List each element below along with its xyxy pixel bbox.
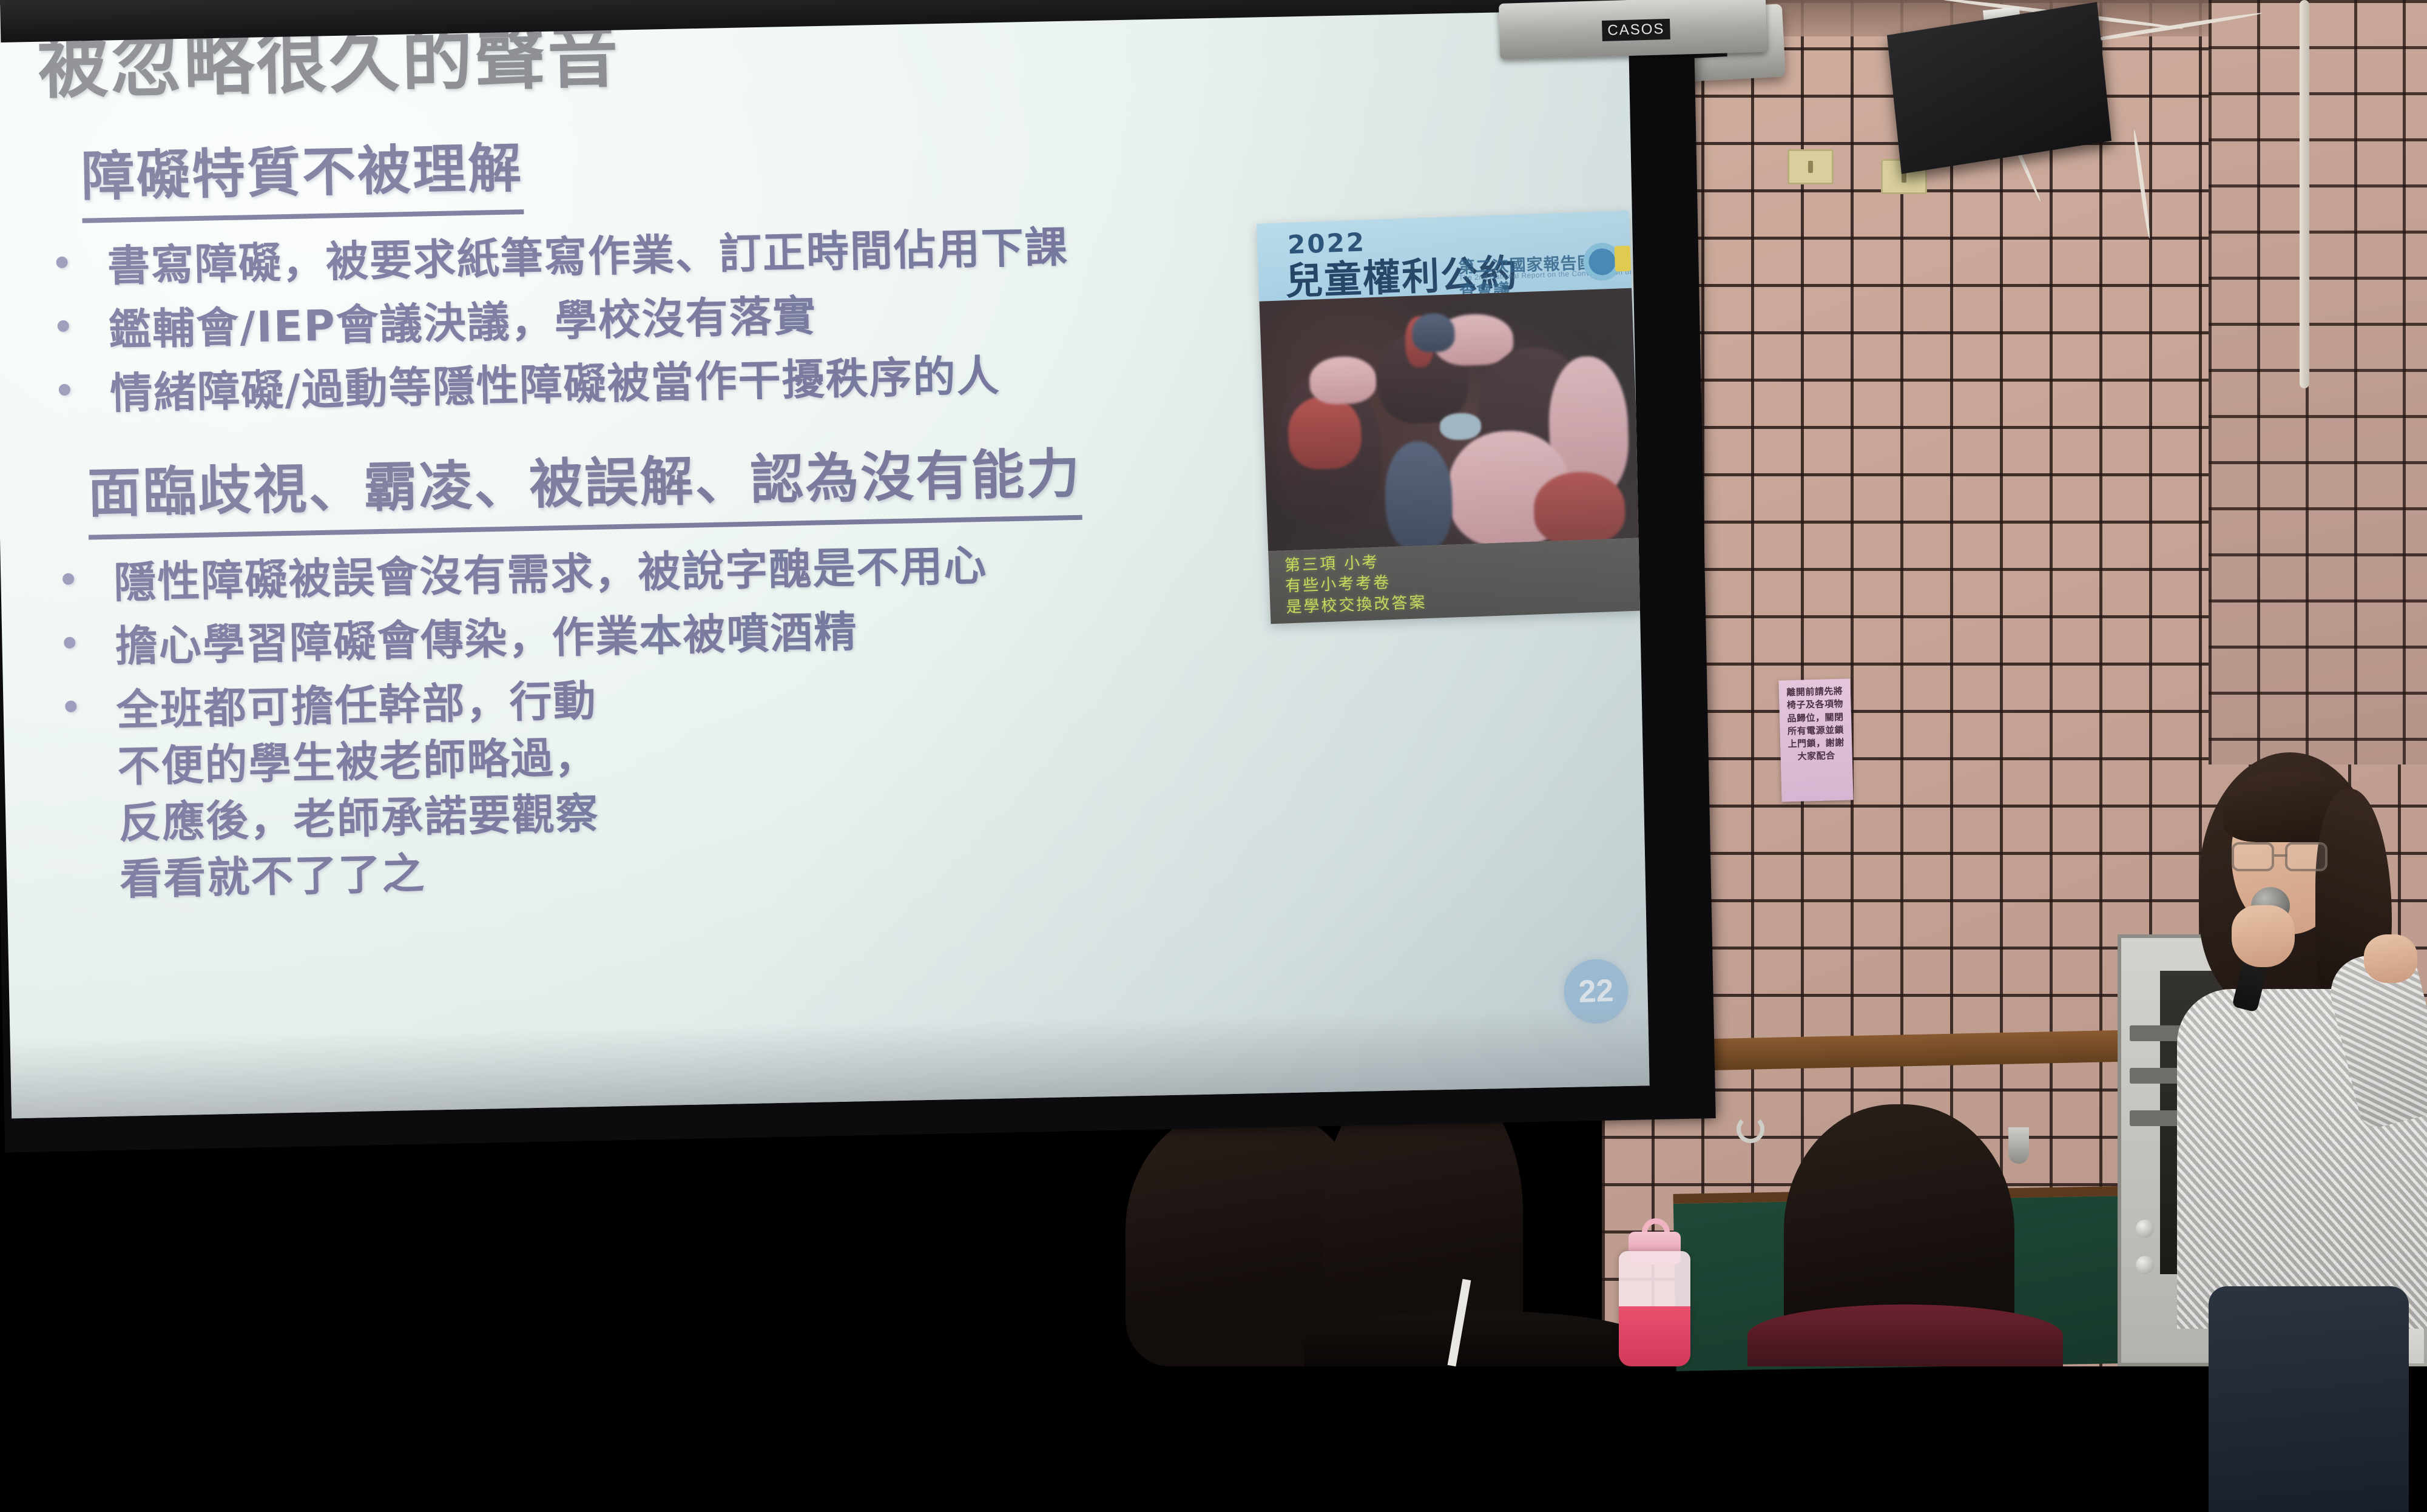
audience-shoulders-2 [1305,1311,1644,1366]
av-rack-knob-1[interactable] [2136,1220,2154,1238]
section-heading: 障礙特質不被理解 [81,125,524,223]
board-hook-2 [1737,1115,1764,1143]
audience-shoulders-3 [1747,1304,2063,1366]
screen-brand-label: CASOS [1602,19,1670,41]
presenter-right-hand [2364,934,2417,983]
photo-person-6 [1383,440,1454,552]
presenter-glasses-right [2285,842,2327,871]
presenter-glasses-bridge [2274,854,2287,857]
photo-hand-1 [1309,356,1377,405]
presentation-slide: 被忽略很久的聲音 障礙特質不被理解 書寫障礙，被要求紙筆寫作業、訂正時間佔用下課… [0,0,1650,1118]
av-rack-knob-2[interactable] [2136,1256,2154,1274]
notice-line: 大家配合 [1784,749,1849,764]
embedded-news-image: 2022 兒童權利公約 第二次國家報告國際審查會議 The 2nd Nation… [1257,211,1643,624]
wall-outlet-1[interactable] [1787,149,1834,184]
lecture-room-scene: CASOS 離開前請先將 椅子及各項物 品歸位，關閉 所有電源並鎖 上門鎖，謝謝… [0,0,2427,1366]
notice-line: 品歸位，關閉 [1783,710,1848,725]
photo-face-mask [1439,413,1482,440]
presenter-left-hand [2232,905,2295,967]
presenter [2160,752,2427,1366]
photo-person-7 [1533,470,1626,546]
notice-line: 上門鎖，謝謝 [1784,737,1849,751]
notice-line: 椅子及各項物 [1783,698,1848,712]
wall-notice: 離開前請先將 椅子及各項物 品歸位，關閉 所有電源並鎖 上門鎖，謝謝 大家配合 [1778,678,1853,802]
photo-person-2-top [1411,312,1455,353]
embedded-image-caption: 第三項 小考 有些小考考卷 是學校交換改答案 [1268,538,1643,624]
embedded-image-header: 2022 兒童權利公約 第二次國家報告國際審查會議 The 2nd Nation… [1257,211,1632,302]
wall-conduit-pipe [2300,0,2309,388]
section-heading: 面臨歧視、霸凌、被誤解、認為沒有能力 [87,431,1082,540]
presenter-trousers [2209,1286,2409,1512]
bullet-item: 全班都可擔任幹部，行動不便的學生被老師略過，反應後，老師承諾要觀察看看就不了了之 [39,653,1609,910]
presenter-glasses-left [2232,842,2274,871]
projection-screen: 被忽略很久的聲音 障礙特質不被理解 書寫障礙，被要求紙筆寫作業、訂正時間佔用下課… [0,0,1716,1153]
wall-side-panel [2209,0,2427,764]
board-hook-1 [2008,1127,2029,1164]
photo-person-1-clothing [1287,395,1362,470]
notice-line: 離開前請先將 [1783,685,1848,700]
notice-line: 所有電源並鎖 [1783,724,1848,738]
embedded-photo [1259,288,1640,552]
water-bottle [1619,1251,1690,1366]
